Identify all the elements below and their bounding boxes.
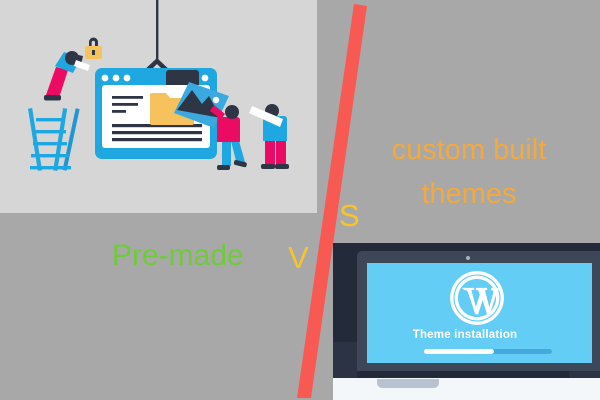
website-building-illustration <box>0 0 317 213</box>
installation-progress-bar <box>424 349 552 354</box>
webcam-dot-icon <box>466 256 470 260</box>
monitor-stand <box>377 379 439 388</box>
monitor-left-edge <box>333 342 357 378</box>
premade-label: Pre-made <box>112 239 244 273</box>
installation-progress-fill <box>424 349 494 354</box>
wordpress-theme-installation-monitor: Theme installation <box>333 243 600 400</box>
illustration-panel <box>0 0 317 213</box>
vs-letter-s: S <box>339 198 360 234</box>
person-on-ladder-icon <box>44 38 102 101</box>
comparison-graphic: Pre-made V S custom built themes Theme i… <box>0 0 600 400</box>
monitor-base <box>333 378 600 400</box>
wordpress-logo-icon <box>449 270 505 326</box>
hanging-wire-icon <box>141 0 173 76</box>
ladder-icon <box>28 108 80 171</box>
custom-built-themes-label: custom built themes <box>364 128 574 216</box>
monitor-screen: Theme installation <box>367 263 592 363</box>
installation-status-text: Theme installation <box>367 329 563 341</box>
person-waving-icon <box>249 104 289 169</box>
vs-letter-v: V <box>288 240 309 276</box>
